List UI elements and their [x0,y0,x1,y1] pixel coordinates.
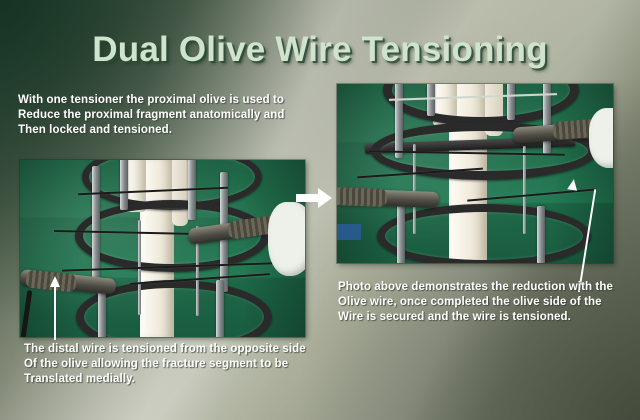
fixator-rod-right-2 [427,84,435,116]
surgeon-glove-left-photo [268,202,305,276]
fixator-rod-right-5 [397,204,405,263]
callout-arrow-left-shaft [54,286,56,340]
fixator-ring-bottom-right [377,204,591,263]
photo-right-fixator [337,84,613,263]
flow-arrow-right [296,188,332,208]
tensioner-grip-right-photo-2 [337,187,387,207]
fixator-rod-right-1 [395,84,403,158]
blue-drape-corner-right [337,224,361,240]
fixator-rod-left-6 [216,280,224,337]
callout-arrow-right-head [567,178,579,190]
fixator-rod-left-3 [188,160,196,220]
fixator-rod-right-3 [507,84,515,120]
fixator-rod-left-2 [120,160,128,210]
caption-right: Photo above demonstrates the reduction w… [338,280,638,325]
callout-arrow-left-head [50,276,60,287]
fixator-threaded-rod-right-2 [523,146,526,234]
fixator-rod-right-6 [537,206,545,263]
slide-canvas: Dual Olive Wire Tensioning [0,0,640,420]
photo-left-fixator [20,160,305,337]
fixator-threaded-rod-right-1 [413,144,416,234]
page-title: Dual Olive Wire Tensioning [0,30,640,70]
caption-bottom-left: The distal wire is tensioned from the op… [24,342,354,387]
caption-top-left: With one tensioner the proximal olive is… [18,93,318,138]
